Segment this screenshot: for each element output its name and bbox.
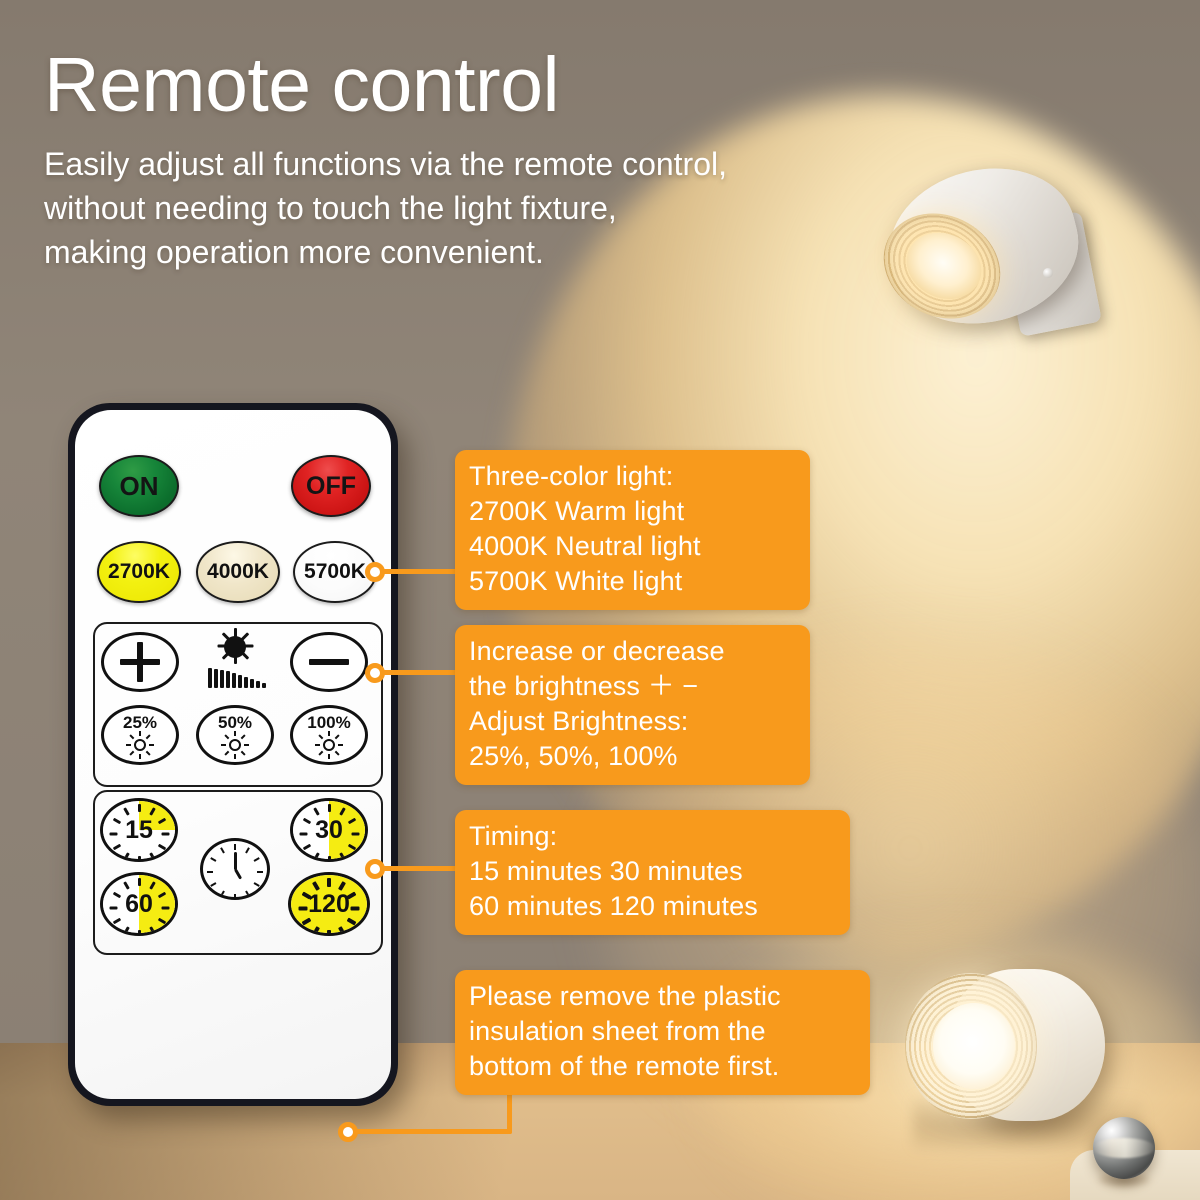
callout-4-line-2: insulation sheet from the	[469, 1014, 856, 1049]
leader-dot-2	[365, 663, 385, 683]
leader-line-2	[372, 670, 464, 675]
timer-120-label: 120	[308, 890, 350, 919]
leader-dot-4	[338, 1122, 358, 1142]
callout-insulation-sheet: Please remove the plastic insulation she…	[455, 970, 870, 1095]
minus-icon	[309, 642, 349, 682]
timer-30-label: 30	[315, 816, 343, 845]
on-button[interactable]: ON	[99, 455, 179, 517]
callout-2-line-3: Adjust Brightness:	[469, 704, 796, 739]
sun-icon	[316, 732, 342, 758]
color-temp-2700k-button[interactable]: 2700K	[97, 541, 181, 603]
metal-ball-highlight	[1093, 1138, 1155, 1158]
callout-2-line-2: the brightness ＋ −	[469, 669, 796, 704]
off-button[interactable]: OFF	[291, 455, 371, 517]
leader-dot-1	[365, 562, 385, 582]
callout-4-line-3: bottom of the remote first.	[469, 1049, 856, 1084]
callout-2-line-1: Increase or decrease	[469, 634, 796, 669]
brightness-50-label: 50%	[218, 714, 252, 731]
page-title: Remote control	[44, 44, 804, 126]
callout-timing: Timing: 15 minutes 30 minutes 60 minutes…	[455, 810, 850, 935]
sun-icon	[127, 732, 153, 758]
infographic-stage: Remote control Easily adjust all functio…	[0, 0, 1200, 1200]
subtitle-line-3: making operation more convenient.	[44, 230, 924, 274]
callout-1-line-1: Three-color light:	[469, 459, 796, 494]
table-lamp-lens	[933, 1003, 1015, 1089]
brightness-increase-button[interactable]	[101, 632, 179, 692]
clock-hour-hand	[234, 869, 242, 880]
callout-1-line-4: 5700K White light	[469, 564, 796, 599]
brightness-100-label: 100%	[307, 714, 350, 731]
callout-2-line-4: 25%, 50%, 100%	[469, 739, 796, 774]
subtitle-line-2: without needing to touch the light fixtu…	[44, 186, 924, 230]
callout-brightness: Increase or decrease the brightness ＋ − …	[455, 625, 810, 785]
timer-30-button[interactable]: 30	[290, 798, 368, 862]
brightness-decrease-button[interactable]	[290, 632, 368, 692]
leader-line-1	[372, 569, 464, 574]
plus-icon	[120, 642, 160, 682]
sun-icon	[222, 732, 248, 758]
leader-line-4-horizontal	[352, 1129, 512, 1134]
callout-1-line-3: 4000K Neutral light	[469, 529, 796, 564]
gradient-bars-icon	[208, 666, 266, 688]
brightness-25-label: 25%	[123, 714, 157, 731]
color-temp-4000k-button[interactable]: 4000K	[196, 541, 280, 603]
callout-3-line-3: 60 minutes 120 minutes	[469, 889, 836, 924]
timer-15-button[interactable]: 15	[100, 798, 178, 862]
brightness-25-button[interactable]: 25%	[101, 705, 179, 765]
callout-3-line-2: 15 minutes 30 minutes	[469, 854, 836, 889]
timer-120-button[interactable]: 120	[288, 872, 370, 936]
clock-minute-hand	[234, 852, 237, 869]
leader-line-3	[372, 866, 464, 871]
timer-60-button[interactable]: 60	[100, 872, 178, 936]
timer-15-label: 15	[125, 816, 153, 845]
brightness-gradient-icon	[206, 634, 266, 692]
timer-60-label: 60	[125, 890, 153, 919]
clock-icon	[200, 838, 270, 900]
leader-dot-3	[365, 859, 385, 879]
callout-1-line-2: 2700K Warm light	[469, 494, 796, 529]
wall-lamp-screw	[1043, 268, 1053, 278]
page-subtitle: Easily adjust all functions via the remo…	[44, 142, 924, 274]
callout-three-color-light: Three-color light: 2700K Warm light 4000…	[455, 450, 810, 610]
callout-3-line-1: Timing:	[469, 819, 836, 854]
subtitle-line-1: Easily adjust all functions via the remo…	[44, 142, 924, 186]
brightness-50-button[interactable]: 50%	[196, 705, 274, 765]
callout-4-line-1: Please remove the plastic	[469, 979, 856, 1014]
brightness-100-button[interactable]: 100%	[290, 705, 368, 765]
